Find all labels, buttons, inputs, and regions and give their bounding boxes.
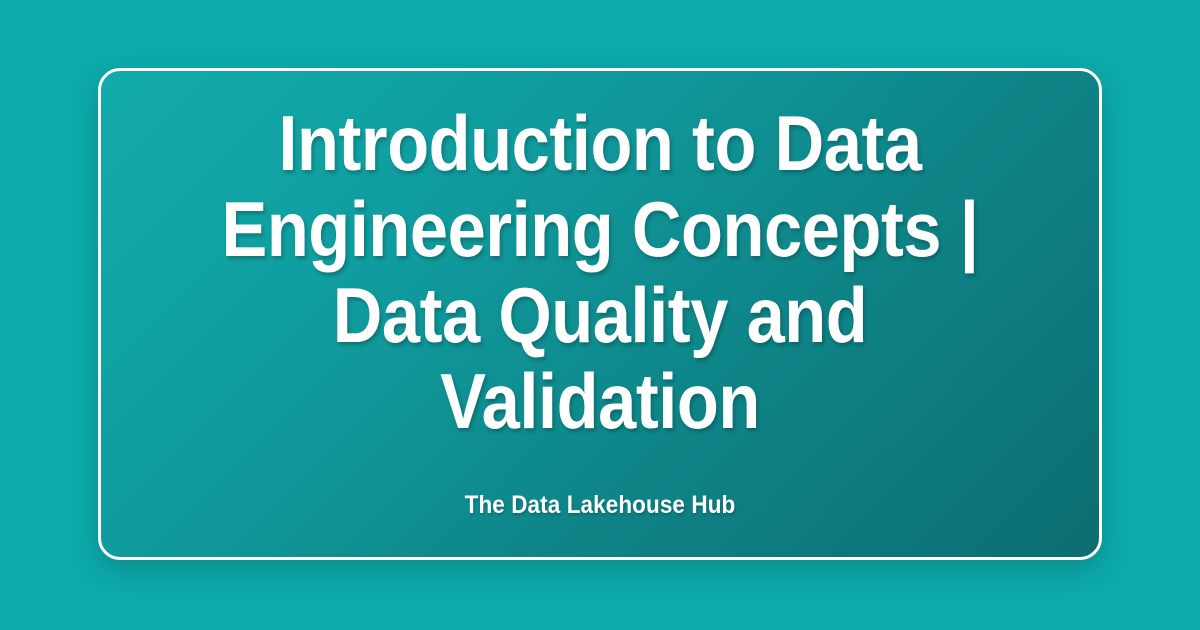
page-title-line-1: Introduction to Data <box>191 100 1009 186</box>
page-title: Introduction to Data Engineering Concept… <box>191 100 1009 444</box>
page-title-line-3: Data Quality and Validation <box>191 272 1009 444</box>
og-image-canvas: Introduction to Data Engineering Concept… <box>0 0 1200 630</box>
site-name-subtitle: The Data Lakehouse Hub <box>182 444 1019 520</box>
page-title-line-2: Engineering Concepts | <box>191 186 1009 272</box>
content-card: Introduction to Data Engineering Concept… <box>98 68 1102 560</box>
